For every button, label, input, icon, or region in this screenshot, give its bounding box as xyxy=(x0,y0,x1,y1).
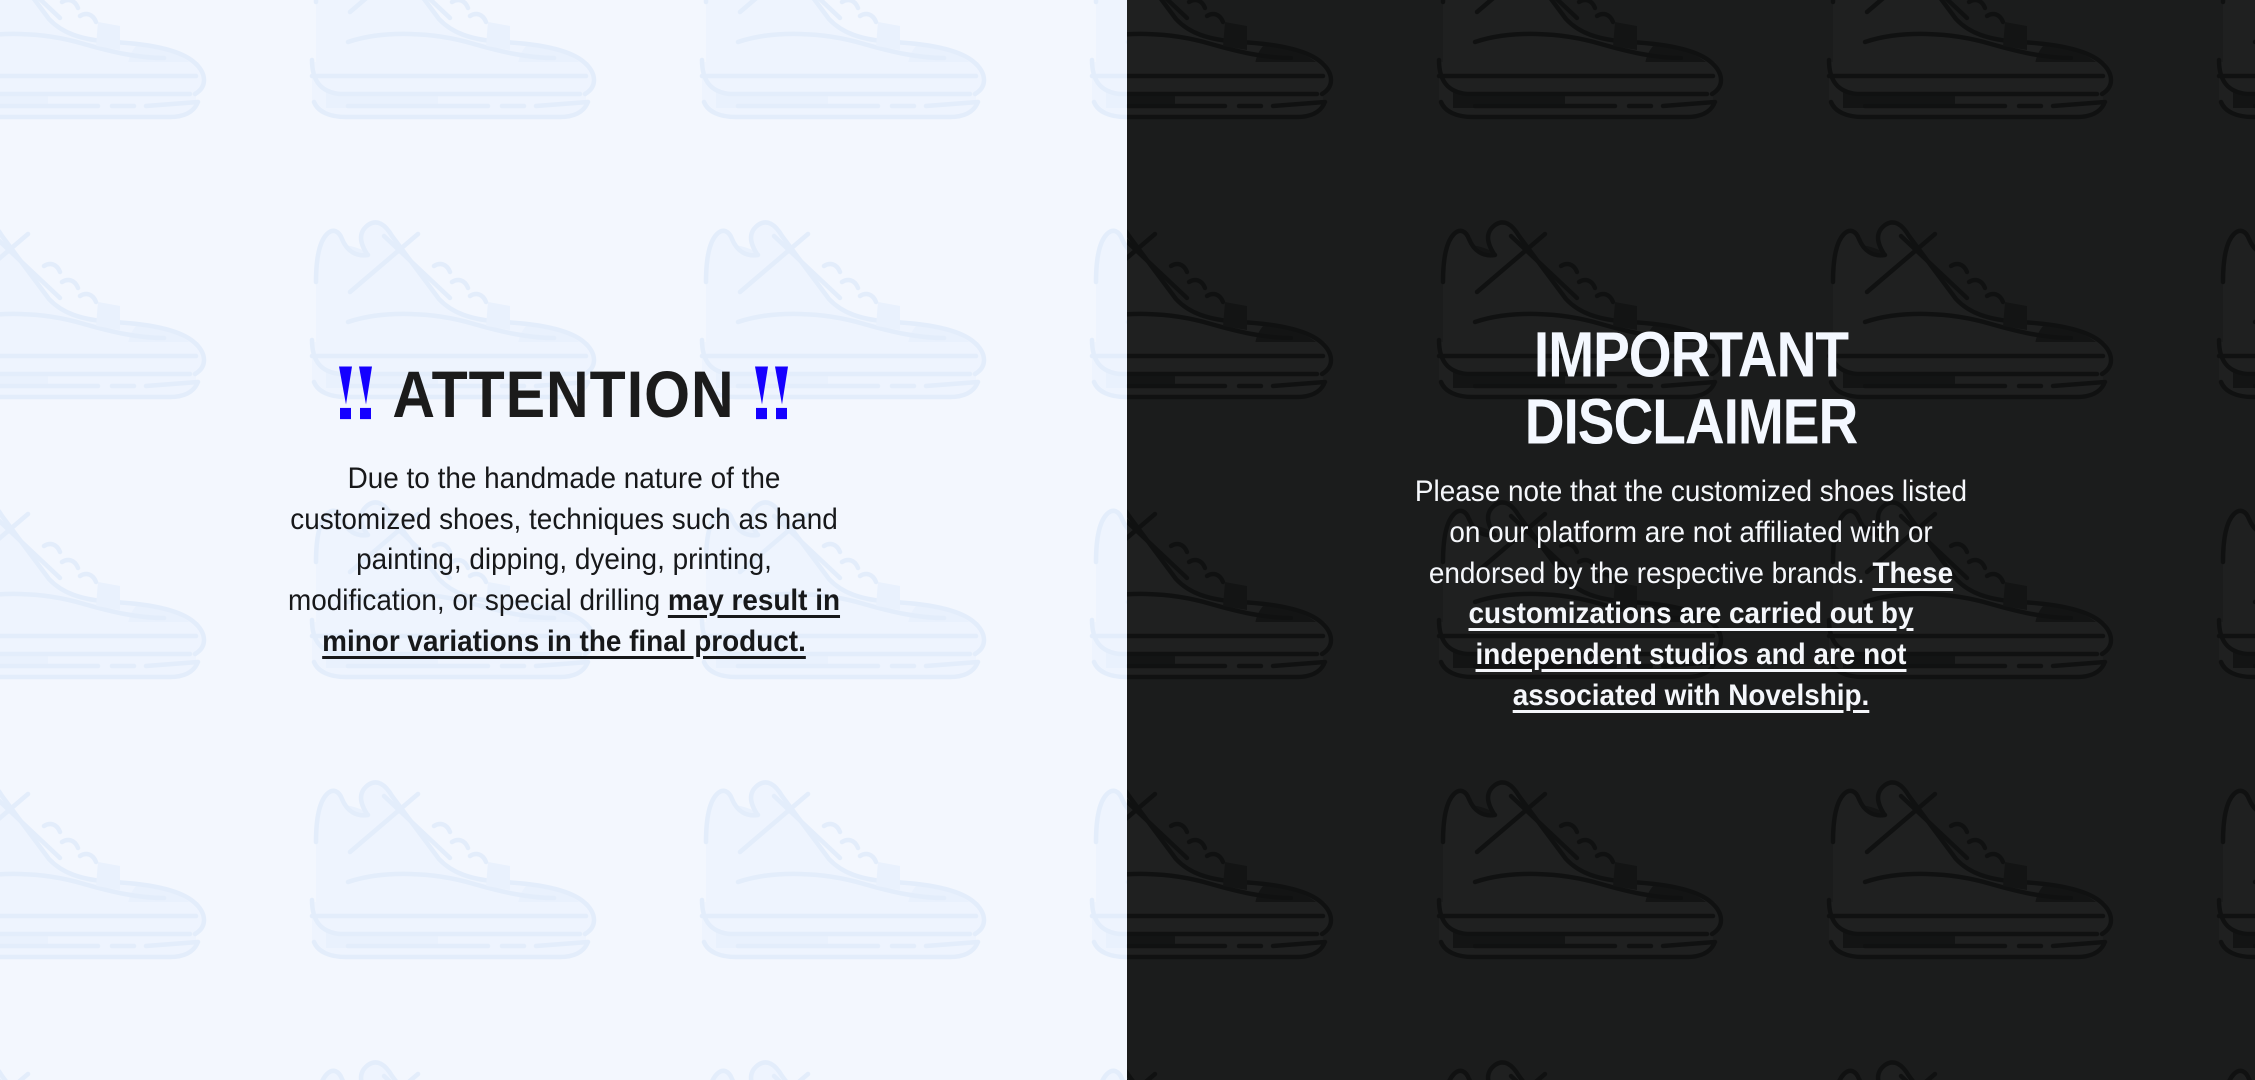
disclaimer-heading-line2: DISCLAIMER xyxy=(1127,390,2255,458)
attention-body: Due to the handmade nature of the custom… xyxy=(275,459,852,662)
double-exclamation-icon xyxy=(339,366,372,419)
attention-panel: ATTENTION Due to the handmade nature of … xyxy=(0,0,1127,1080)
disclaimer-content: IMPORTANT DISCLAIMER Please note that th… xyxy=(1127,322,2255,716)
disclaimer-panel: IMPORTANT DISCLAIMER Please note that th… xyxy=(1127,0,2255,1080)
disclaimer-body: Please note that the customized shoes li… xyxy=(1403,472,1980,716)
attention-heading: ATTENTION xyxy=(339,362,787,428)
disclaimer-banner: ATTENTION Due to the handmade nature of … xyxy=(0,0,2255,1080)
attention-heading-text: ATTENTION xyxy=(392,362,734,428)
disclaimer-heading: IMPORTANT DISCLAIMER xyxy=(1127,322,2255,457)
double-exclamation-icon xyxy=(755,366,788,419)
disclaimer-heading-line1: IMPORTANT xyxy=(1127,322,2255,390)
attention-content: ATTENTION Due to the handmade nature of … xyxy=(0,362,1127,662)
